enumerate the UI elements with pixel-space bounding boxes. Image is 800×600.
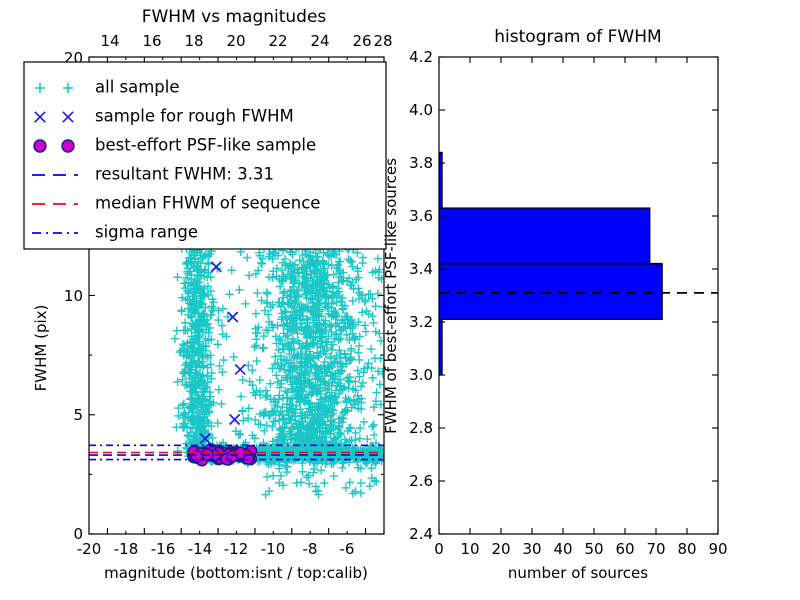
right-panel-ylabel: FWHM of best-effort PSF-like sources [382, 158, 400, 434]
x-tick-label: -18 [114, 540, 139, 558]
right-panel-title: histogram of FWHM [494, 27, 661, 47]
x-tick-label: -8 [303, 540, 318, 558]
right-panel-data [439, 152, 718, 375]
top-tick-label: 26 [352, 32, 371, 50]
x-tick-label: 80 [677, 540, 696, 558]
legend-label: all sample [95, 78, 180, 97]
x-tick-label: -20 [77, 540, 102, 558]
y-tick-label: 2.6 [409, 472, 433, 490]
left-panel-title: FWHM vs magnitudes [142, 7, 327, 27]
x-tick-label: -6 [340, 540, 355, 558]
x-tick-label: -10 [261, 540, 286, 558]
left-panel-xlabel: magnitude (bottom:isnt / top:calib) [104, 564, 368, 582]
left-panel-ylabel: FWHM (pix) [32, 305, 50, 392]
x-tick-label: 50 [584, 540, 603, 558]
x-tick-label: -14 [188, 540, 213, 558]
x-tick-label: 60 [615, 540, 634, 558]
legend-label: resultant FWHM: 3.31 [95, 165, 274, 184]
legend-label: sigma range [95, 223, 198, 242]
legend-box [24, 62, 386, 249]
legend-label: sample for rough FWHM [95, 107, 294, 126]
y-tick-label: 3.8 [409, 154, 433, 172]
y-tick-label: 3.0 [409, 366, 433, 384]
left-top-tick-labels: 14 16 18 20 22 24 26 28 [100, 32, 392, 50]
left-panel: FWHM vs magnitudes 14 16 18 20 22 24 26 … [24, 7, 393, 582]
y-tick-label: 2.4 [409, 525, 433, 543]
left-panel-data [89, 217, 388, 498]
y-tick-label: 4.2 [409, 48, 433, 66]
y-tick-label: 3.2 [409, 313, 433, 331]
legend-label: median FHWM of sequence [95, 194, 320, 213]
left-bottom-tick-labels: -20 -18 -16 -14 -12 -10 -8 -6 [77, 540, 355, 558]
y-tick-label: 10 [64, 287, 83, 305]
top-tick-label: 24 [310, 32, 329, 50]
y-tick-label: 3.6 [409, 207, 433, 225]
x-tick-label: 10 [460, 540, 479, 558]
legend: all sample sample for rough FWHM best-ef… [24, 62, 386, 249]
top-tick-label: 16 [142, 32, 161, 50]
x-tick-label: -12 [224, 540, 249, 558]
y-tick-label: 4.0 [409, 101, 433, 119]
x-tick-label: 20 [491, 540, 510, 558]
x-tick-label: -16 [151, 540, 176, 558]
x-tick-label: 90 [708, 540, 727, 558]
y-tick-label: 5 [73, 406, 83, 424]
x-tick-label: 30 [522, 540, 541, 558]
legend-label: best-effort PSF-like sample [95, 136, 316, 155]
right-panel-xlabel: number of sources [508, 564, 648, 582]
x-tick-label: 70 [646, 540, 665, 558]
right-y-tick-labels: 2.42.62.83.03.23.43.63.84.04.2 [409, 48, 433, 543]
top-tick-label: 14 [100, 32, 119, 50]
figure-canvas: FWHM vs magnitudes 14 16 18 20 22 24 26 … [0, 0, 800, 600]
x-tick-label: 40 [553, 540, 572, 558]
right-panel: histogram of FWHM 2.42.62.83.03.23.43.63… [382, 27, 728, 582]
plot-svg: FWHM vs magnitudes 14 16 18 20 22 24 26 … [0, 0, 800, 600]
top-tick-label: 28 [373, 32, 392, 50]
top-tick-label: 22 [268, 32, 287, 50]
top-tick-label: 20 [226, 32, 245, 50]
y-tick-label: 2.8 [409, 419, 433, 437]
right-x-tick-labels: 0102030405060708090 [434, 540, 727, 558]
x-tick-label: 0 [434, 540, 444, 558]
top-tick-label: 18 [184, 32, 203, 50]
y-tick-label: 3.4 [409, 260, 433, 278]
